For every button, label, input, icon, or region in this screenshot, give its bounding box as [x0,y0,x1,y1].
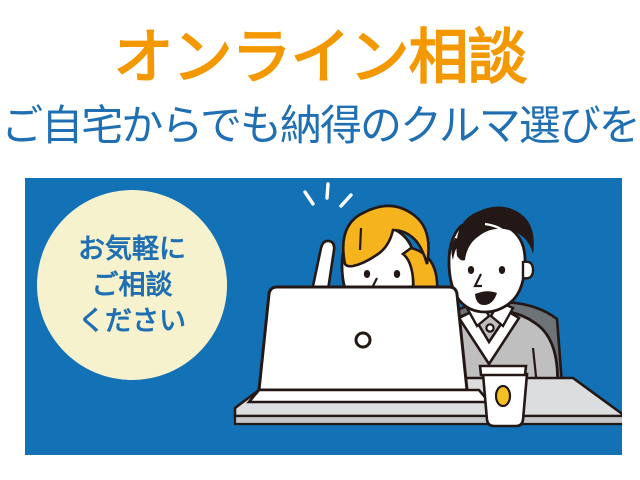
sparkle-marks [305,184,351,206]
online-consultation-banner: オンライン相談 ご自宅からでも納得のクルマ選びを お気軽に ご相談 ください [0,0,640,480]
illustration [175,178,622,455]
man-eye-left [468,266,474,274]
man-eye-right [499,266,505,274]
woman-eye-left [364,270,370,278]
page-subtitle: ご自宅からでも納得のクルマ選びを [0,100,640,152]
illustration-panel: お気軽に ご相談 ください [25,178,622,455]
woman-eye-right [394,270,400,278]
cup-logo-icon [496,386,510,406]
cup-lid [480,366,526,375]
laptop-logo-icon [356,333,370,347]
page-title: オンライン相談 [0,24,640,92]
badge-line-1: お気軽に [78,231,186,267]
headline-block: オンライン相談 ご自宅からでも納得のクルマ選びを [0,0,640,172]
laptop-base [249,390,489,402]
laptop [249,287,489,402]
coffee-cup [480,366,527,426]
badge-line-3: ください [78,303,186,339]
badge-line-2: ご相談 [92,267,173,303]
desk-edge [235,416,622,424]
